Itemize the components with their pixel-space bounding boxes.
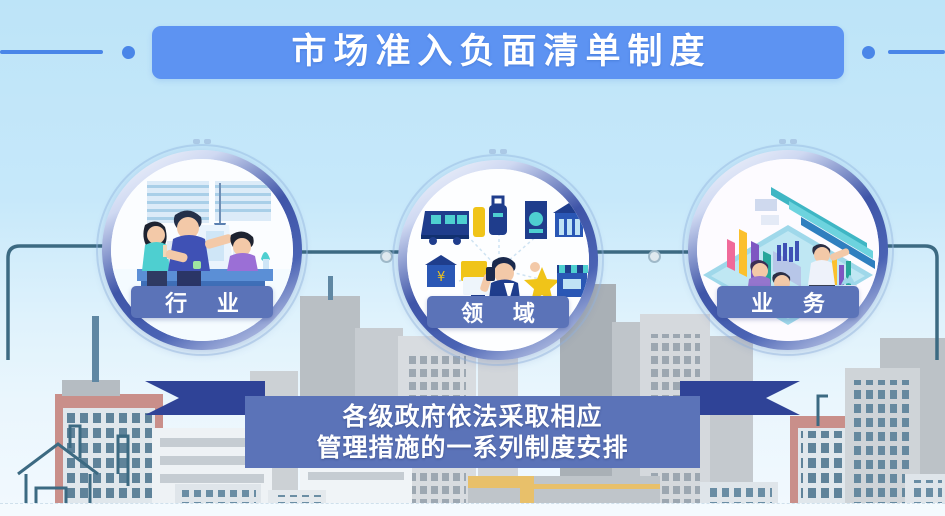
node-label-1: 行 业 <box>131 286 273 318</box>
node-card-1[interactable]: 行 业 <box>102 150 302 350</box>
connector-node-mid2 <box>648 250 661 263</box>
svg-text:¥: ¥ <box>437 270 445 285</box>
node-card-2[interactable]: ¥ <box>398 160 598 360</box>
page-title-banner: 市场准入负面清单制度 <box>152 26 844 79</box>
node-ring-3 <box>688 150 888 350</box>
page-title: 市场准入负面清单制度 <box>284 35 711 70</box>
node-cap-dots-1 <box>193 139 211 144</box>
infographic-canvas: 市场准入负面清单制度 <box>0 0 945 516</box>
node-label-text-3: 业 务 <box>740 286 836 318</box>
node-label-text-1: 行 业 <box>154 286 250 318</box>
node-ring-2: ¥ <box>398 160 598 360</box>
ground-strip <box>0 503 945 516</box>
node-label-2: 领 域 <box>427 296 569 328</box>
header-rule-right <box>888 50 945 54</box>
node-ring-1 <box>102 150 302 350</box>
node-cap-dots-2 <box>489 149 507 154</box>
node-cap-dots-3 <box>779 139 797 144</box>
ribbon-body: 各级政府依法采取相应 管理措施的一系列制度安排 <box>245 396 700 468</box>
ribbon-line-2: 管理措施的一系列制度安排 <box>316 433 628 463</box>
ribbon-line-1: 各级政府依法采取相应 <box>342 402 602 432</box>
node-card-3[interactable]: 业 务 <box>688 150 888 350</box>
header-dot-right <box>862 46 875 59</box>
node-label-3: 业 务 <box>717 286 859 318</box>
header-dot-left <box>122 46 135 59</box>
node-label-text-2: 领 域 <box>450 296 546 328</box>
header-rule-left <box>0 50 103 54</box>
